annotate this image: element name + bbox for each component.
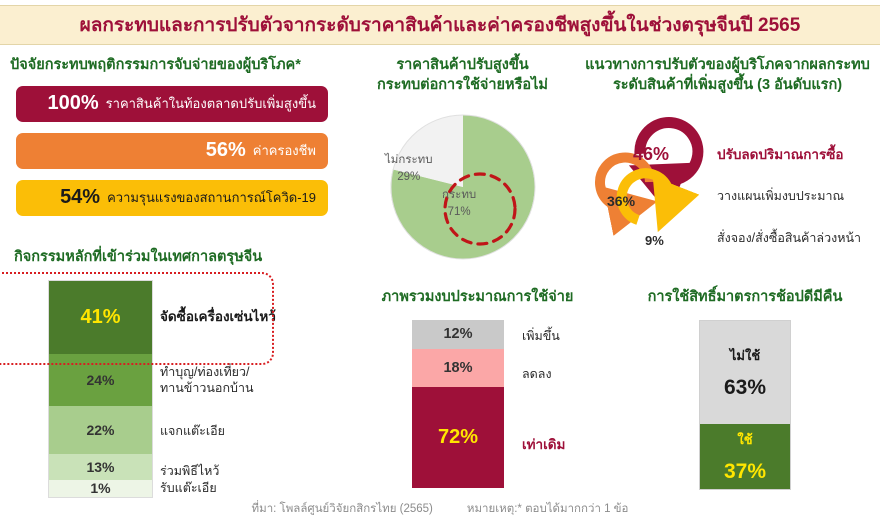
activities-chart: 41% 24% 22% 13% 1% จัดซื้อเครื่องเซ่นไหว… (0, 280, 345, 498)
shop-segment-not-used: ไม่ใช้ 63% (700, 321, 790, 424)
pie-heading-line2: กระทบต่อการใช้จ่ายหรือไม่ (345, 76, 580, 96)
infographic-root: ผลกระทบและการปรับตัวจากระดับราคาสินค้าแล… (0, 0, 880, 526)
budget-chart: 12% 18% 72% เพิ่มขึ้น ลดลง เท่าเดิม (350, 320, 605, 488)
budget-label-decrease: ลดลง (522, 364, 552, 384)
adaptation-rings: 46% 36% 9% ปรับลดปริมาณการซื้อ วางแผนเพิ… (575, 105, 880, 265)
activity-segment-2: 24% (49, 354, 152, 406)
header-banner: ผลกระทบและการปรับตัวจากระดับราคาสินค้าแล… (0, 5, 880, 45)
panel-budget: ภาพรวมงบประมาณการใช้จ่าย 12% 18% 72% เพิ… (350, 288, 605, 488)
shop-segment-not-used-value: 63% (724, 376, 766, 400)
budget-segment-same-value: 72% (438, 426, 478, 449)
pie-label-no-impact-text: ไม่กระทบ (385, 154, 433, 166)
factors-heading: ปัจจัยกระทบพฤติกรรมการจับจ่ายของผู้บริโภ… (0, 56, 340, 76)
pie-label-impact: กระทบ 71% (442, 187, 476, 222)
factor-bar-1-label: ราคาสินค้าในท้องตลาดปรับเพิ่มสูงขึ้น (106, 93, 316, 114)
pie-chart: ไม่กระทบ 29% กระทบ 71% (345, 107, 580, 272)
activity-segment-5-value: 1% (90, 480, 110, 496)
factor-bar-3-value: 54% (60, 186, 100, 209)
shop-chart: ไม่ใช้ 63% ใช้ 37% (610, 320, 880, 490)
activity-segment-5: 1% (49, 480, 152, 497)
factor-bar-3-label: ความรุนแรงของสถานการณ์โควิด-19 (107, 187, 316, 208)
activity-segment-3-value: 22% (86, 422, 114, 438)
pie-label-impact-value: 71% (448, 206, 471, 218)
panel-price-impact-pie: ราคาสินค้าปรับสูงขึ้น กระทบต่อการใช้จ่าย… (345, 56, 580, 272)
budget-segment-decrease-value: 18% (443, 360, 472, 376)
panel-shop-dee-mee-kuen: การใช้สิทธิ์มาตรการช้อปดีมีคืน ไม่ใช้ 63… (610, 288, 880, 490)
adaptation-label-1: ปรับลดปริมาณการซื้อ (717, 143, 844, 165)
activity-segment-1: 41% (49, 281, 152, 354)
shop-heading: การใช้สิทธิ์มาตรการช้อปดีมีคืน (610, 288, 880, 308)
budget-segment-same: 72% (412, 387, 504, 488)
adaptation-label-3: สั่งจอง/สั่งซื้อสินค้าล่วงหน้า (717, 228, 861, 248)
activity-label-3: แจกแต๊ะเอีย (160, 423, 225, 439)
panel-adaptation: แนวทางการปรับตัวของผู้บริโภคจากผลกระทบ ร… (575, 56, 880, 265)
budget-segment-increase-value: 12% (443, 326, 472, 342)
shop-segment-used: ใช้ 37% (700, 424, 790, 489)
pie-label-no-impact-value: 29% (397, 171, 420, 183)
activity-segment-4-value: 13% (86, 459, 114, 475)
adaptation-ring-1-value: 46% (633, 144, 669, 165)
activity-segment-2-value: 24% (86, 372, 114, 388)
budget-segment-increase: 12% (412, 320, 504, 349)
budget-heading: ภาพรวมงบประมาณการใช้จ่าย (350, 288, 605, 308)
budget-label-increase: เพิ่มขึ้น (522, 326, 560, 346)
budget-segment-decrease: 18% (412, 349, 504, 387)
budget-stacked-bar: 12% 18% 72% (412, 320, 504, 488)
pie-label-no-impact: ไม่กระทบ 29% (385, 152, 433, 187)
footer: ที่มา: โพลล์ศูนย์วิจัยกสิกรไทย (2565) หม… (0, 500, 880, 518)
factor-bar-2-value: 56% (206, 139, 246, 162)
factors-bar-list: 100% ราคาสินค้าในท้องตลาดปรับเพิ่มสูงขึ้… (0, 86, 340, 216)
factor-bar-1: 100% ราคาสินค้าในท้องตลาดปรับเพิ่มสูงขึ้… (16, 86, 328, 122)
shop-segment-used-value: 37% (724, 460, 766, 484)
adaptation-heading-line1: แนวทางการปรับตัวของผู้บริโภคจากผลกระทบ (575, 56, 880, 76)
panel-activities: กิจกรรมหลักที่เข้าร่วมในเทศกาลตรุษจีน 41… (0, 248, 345, 498)
pie-label-impact-text: กระทบ (442, 189, 476, 201)
activity-label-4: ร่วมพิธีไหว้ (160, 463, 219, 479)
activity-segment-1-value: 41% (80, 306, 120, 329)
factor-bar-1-value: 100% (48, 92, 99, 115)
activity-label-1: จัดซื้อเครื่องเซ่นไหว้ (160, 308, 276, 326)
adaptation-ring-2-value: 36% (607, 193, 635, 209)
activities-stacked-bar: 41% 24% 22% 13% 1% (48, 280, 153, 498)
adaptation-heading-line2: ระดับสินค้าที่เพิ่มสูงขึ้น (3 อันดับแรก) (575, 76, 880, 96)
activity-segment-3: 22% (49, 406, 152, 454)
factor-bar-2: 56% ค่าครองชีพ (16, 133, 328, 169)
shop-stacked-bar: ไม่ใช้ 63% ใช้ 37% (699, 320, 791, 490)
adaptation-ring-3-value: 9% (645, 233, 664, 248)
activity-label-5: รับแต๊ะเอีย (160, 480, 217, 496)
shop-segment-used-label: ใช้ (737, 429, 752, 450)
factor-bar-2-label: ค่าครองชีพ (253, 140, 316, 161)
activities-heading: กิจกรรมหลักที่เข้าร่วมในเทศกาลตรุษจีน (0, 248, 345, 268)
shop-segment-not-used-label: ไม่ใช้ (730, 345, 760, 366)
pie-heading-line1: ราคาสินค้าปรับสูงขึ้น (345, 56, 580, 76)
footer-source: ที่มา: โพลล์ศูนย์วิจัยกสิกรไทย (2565) (252, 500, 433, 518)
budget-label-same: เท่าเดิม (522, 433, 565, 455)
page-title: ผลกระทบและการปรับตัวจากระดับราคาสินค้าแล… (80, 10, 801, 40)
activity-segment-4: 13% (49, 454, 152, 480)
adaptation-label-2: วางแผนเพิ่มงบประมาณ (717, 186, 844, 206)
panel-factors: ปัจจัยกระทบพฤติกรรมการจับจ่ายของผู้บริโภ… (0, 56, 340, 227)
factor-bar-3: 54% ความรุนแรงของสถานการณ์โควิด-19 (16, 180, 328, 216)
activity-label-2: ทำบุญ/ท่องเที่ยว/ ทานข้าวนอกบ้าน (160, 364, 254, 397)
footer-note: หมายเหตุ:* ตอบได้มากกว่า 1 ข้อ (467, 500, 629, 518)
